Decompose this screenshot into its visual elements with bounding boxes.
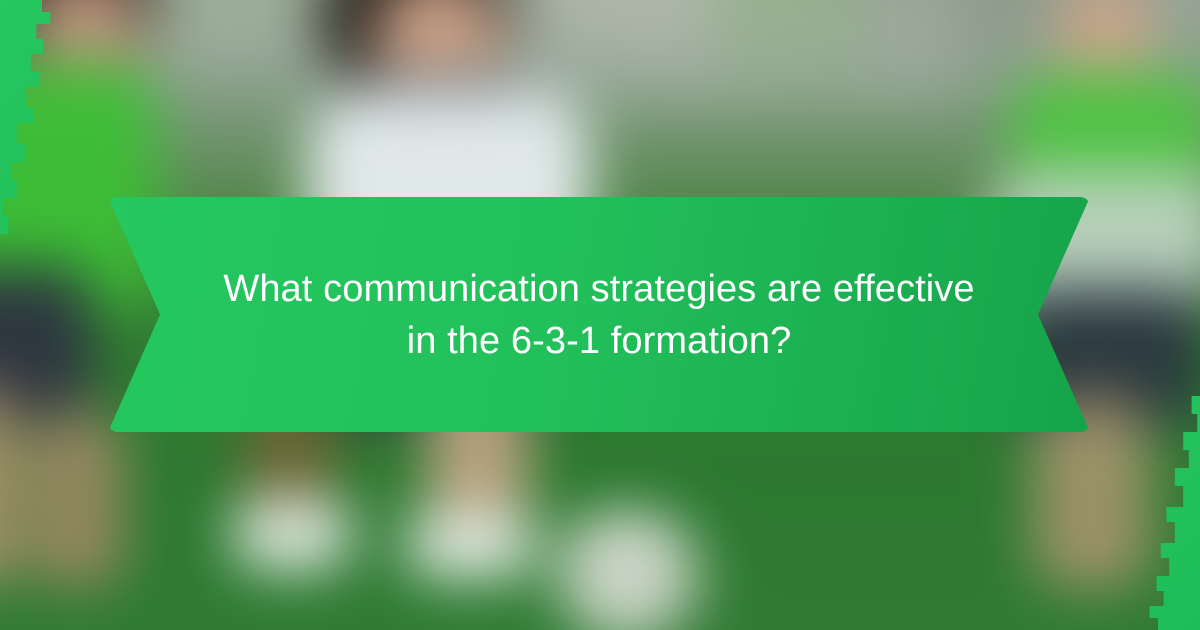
photo-player-left-shorts [0,266,92,428]
photo-player-left-leg [0,385,17,590]
photo-pitch-stripe [0,569,1200,597]
banner-heading-line-1: What communication strategies are effect… [223,263,974,315]
banner-heading-line-2: in the 6-3-1 formation? [223,315,974,367]
banner-heading: What communication strategies are effect… [183,263,1014,367]
ribbon-banner: What communication strategies are effect… [108,197,1090,432]
social-card: What communication strategies are effect… [0,0,1200,630]
photo-pitch-stripe [0,493,1200,521]
photo-background-rail [0,40,1200,83]
